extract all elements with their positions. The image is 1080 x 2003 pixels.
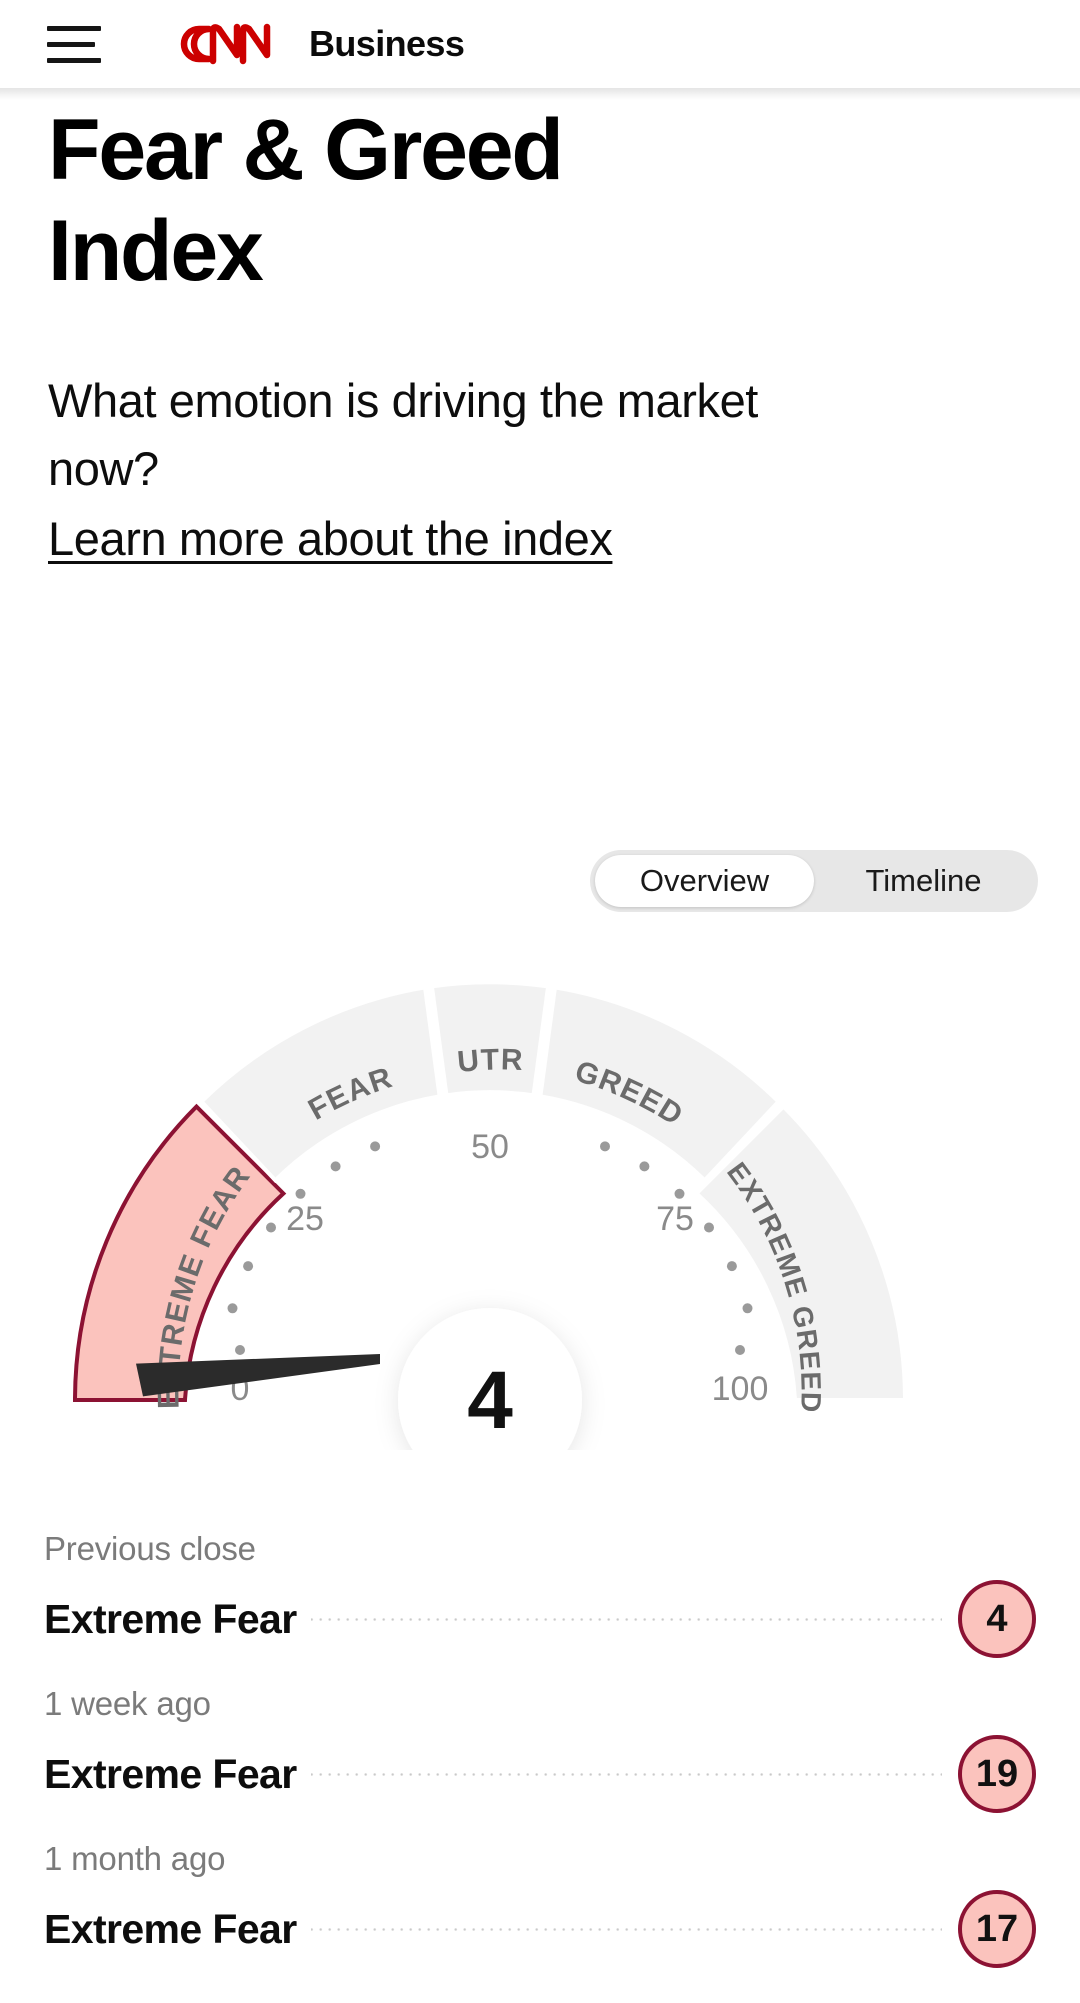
view-toggle-container: Overview Timeline	[0, 850, 1080, 912]
cnn-logo-icon	[169, 19, 297, 69]
row-timeframe: 1 week ago	[44, 1685, 1036, 1723]
tick-label-50: 50	[471, 1128, 509, 1166]
hamburger-bar-1	[47, 26, 101, 31]
brand-word: Business	[309, 26, 464, 62]
fear-greed-page: Business Fear & Greed Index What emotion…	[0, 0, 1080, 2003]
status-badge: 19	[958, 1735, 1036, 1813]
row-leader-line	[311, 1773, 942, 1776]
view-toggle[interactable]: Overview Timeline	[590, 850, 1038, 912]
learn-more-link[interactable]: Learn more about the index	[48, 511, 612, 566]
row-timeframe: 1 month ago	[44, 1840, 1036, 1878]
list-item[interactable]: 1 month ago Extreme Fear 17	[44, 1840, 1036, 1995]
segment-neutral[interactable]	[432, 982, 548, 1095]
list-item[interactable]: 1 week ago Extreme Fear 19	[44, 1685, 1036, 1840]
status-badge: 17	[958, 1890, 1036, 1968]
site-header: Business	[0, 0, 1080, 88]
brand-logo[interactable]: Business	[169, 19, 464, 69]
row-body: Extreme Fear 17	[44, 1890, 1036, 1968]
fear-greed-gauge: EXTREME FEAR FEAR NEUTRAL GREED EXTREME …	[0, 930, 1080, 1450]
hamburger-menu-icon[interactable]	[47, 24, 101, 64]
list-item[interactable]: Previous close Extreme Fear 4	[44, 1530, 1036, 1685]
tick-label-75: 75	[656, 1200, 694, 1238]
gauge-value: 4	[467, 1355, 513, 1446]
header-shadow	[0, 88, 1080, 100]
row-state: Extreme Fear	[44, 1751, 297, 1798]
hamburger-bar-3	[47, 58, 101, 63]
row-leader-line	[311, 1618, 942, 1621]
tab-timeline[interactable]: Timeline	[814, 855, 1033, 907]
hero-section: Fear & Greed Index What emotion is drivi…	[0, 100, 1080, 566]
history-list: Previous close Extreme Fear 4 1 week ago…	[0, 1530, 1080, 1995]
row-body: Extreme Fear 4	[44, 1580, 1036, 1658]
page-subtitle: What emotion is driving the market now?	[48, 367, 848, 502]
row-state: Extreme Fear	[44, 1906, 297, 1953]
tab-overview[interactable]: Overview	[595, 855, 814, 907]
tick-label-25: 25	[286, 1200, 324, 1238]
status-badge: 4	[958, 1580, 1036, 1658]
row-body: Extreme Fear 19	[44, 1735, 1036, 1813]
hamburger-bar-2	[47, 42, 95, 47]
row-timeframe: Previous close	[44, 1530, 1036, 1568]
page-title: Fear & Greed Index	[48, 100, 768, 301]
row-leader-line	[311, 1928, 942, 1931]
tick-label-100: 100	[712, 1370, 769, 1408]
gauge-center-hub: 4	[398, 1308, 582, 1450]
gauge-svg: EXTREME FEAR FEAR NEUTRAL GREED EXTREME …	[35, 930, 1045, 1450]
row-state: Extreme Fear	[44, 1596, 297, 1643]
